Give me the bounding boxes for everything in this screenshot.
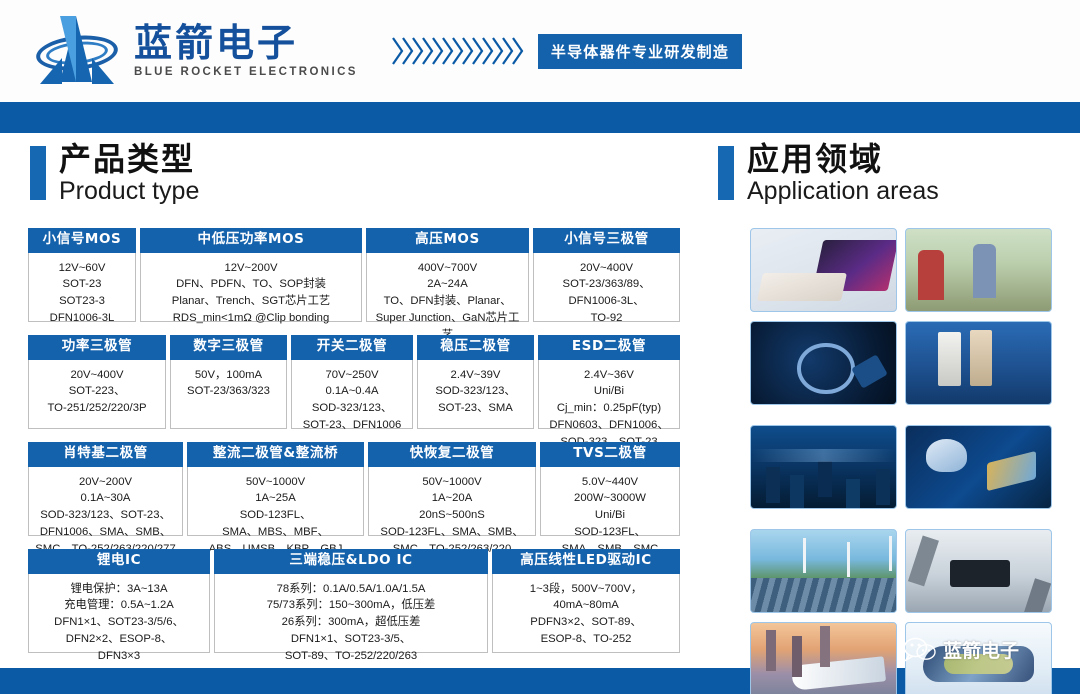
brand-logo: 蓝箭电子 BLUE ROCKET ELECTRONICS — [34, 14, 358, 88]
product-category-card[interactable]: 小信号三极管20V~400V SOT-23/363/89、 DFN1006-3L… — [533, 228, 680, 322]
smart-city-night-photo — [750, 425, 897, 509]
product-category-title: ESD二极管 — [538, 335, 680, 360]
application-areas-title-cn: 应用领域 — [747, 142, 939, 177]
application-areas-title-en: Application areas — [747, 178, 939, 206]
tagline-badge: 半导体器件专业研发制造 — [538, 34, 742, 69]
brand-name-cn: 蓝箭电子 — [134, 24, 358, 64]
heading-accent-bar — [30, 146, 46, 200]
brand-text: 蓝箭电子 BLUE ROCKET ELECTRONICS — [134, 24, 358, 79]
product-category-title: 整流二极管&整流桥 — [187, 442, 364, 467]
application-image-row — [750, 321, 1052, 405]
wearable-devices-photo — [750, 321, 897, 405]
product-category-card[interactable]: 高压线性LED驱动IC1~3段，500V~700V， 40mA~80mA PDF… — [492, 549, 680, 653]
product-category-card[interactable]: TVS二极管5.0V~440V 200W~3000W Uni/Bi SOD-12… — [540, 442, 680, 536]
product-category-title: 高压线性LED驱动IC — [492, 549, 680, 574]
product-category-title: 高压MOS — [366, 228, 529, 253]
product-category-title: 锂电IC — [28, 549, 210, 574]
product-category-title: 快恢复二极管 — [368, 442, 536, 467]
product-category-card[interactable]: 锂电IC锂电保护：3A~13A 充电管理：0.5A~1.2A DFN1×1、SO… — [28, 549, 210, 653]
product-category-specs: 20V~200V 0.1A~30A SOD-323/123、SOT-23、 DF… — [28, 467, 183, 536]
wechat-account-name: 蓝箭电子 — [943, 636, 1019, 663]
product-row: 肖特基二极管20V~200V 0.1A~30A SOD-323/123、SOT-… — [28, 442, 688, 542]
application-image-row — [750, 228, 1052, 312]
application-image-row — [750, 425, 1052, 509]
product-category-specs: 2.4V~36V Uni/Bi Cj_min：0.25pF(typ) DFN06… — [538, 360, 680, 429]
product-category-specs: 1~3段，500V~700V， 40mA~80mA PDFN3×2、SOT-89… — [492, 574, 680, 653]
product-type-heading: 产品类型 Product type — [30, 142, 199, 205]
product-category-card[interactable]: 功率三极管20V~400V SOT-223、 TO-251/252/220/3P — [28, 335, 166, 429]
chevron-arrows-icon — [392, 36, 522, 66]
home-appliances-photo — [905, 321, 1052, 405]
industrial-robot-arm-photo — [905, 529, 1052, 613]
product-category-card[interactable]: 数字三极管50V，100mA SOT-23/363/323 — [170, 335, 287, 429]
product-category-specs: 50V~1000V 1A~20A 20nS~500nS SOD-123FL、SM… — [368, 467, 536, 536]
application-image-row — [750, 529, 1052, 613]
laptop-tablet-photo — [750, 228, 897, 312]
product-category-title: 小信号MOS — [28, 228, 136, 253]
product-category-title: 中低压功率MOS — [140, 228, 362, 253]
application-image-grid — [750, 228, 1052, 694]
product-category-card[interactable]: ESD二极管2.4V~36V Uni/Bi Cj_min：0.25pF(typ)… — [538, 335, 680, 429]
solar-wind-energy-photo — [750, 529, 897, 613]
product-category-card[interactable]: 快恢复二极管50V~1000V 1A~20A 20nS~500nS SOD-12… — [368, 442, 536, 536]
rocket-logo-icon — [34, 14, 120, 88]
high-speed-train-photo — [750, 622, 897, 694]
heading-accent-bar — [718, 146, 734, 200]
product-category-title: TVS二极管 — [540, 442, 680, 467]
product-category-specs: 锂电保护：3A~13A 充电管理：0.5A~1.2A DFN1×1、SOT23-… — [28, 574, 210, 653]
product-category-specs: 12V~60V SOT-23 SOT23-3 DFN1006-3L — [28, 253, 136, 322]
chevron-right-icon — [512, 36, 525, 66]
product-category-card[interactable]: 三端稳压&LDO IC78系列：0.1A/0.5A/1.0A/1.5A 75/7… — [214, 549, 488, 653]
product-row: 小信号MOS12V~60V SOT-23 SOT23-3 DFN1006-3L中… — [28, 228, 688, 328]
product-category-specs: 78系列：0.1A/0.5A/1.0A/1.5A 75/73系列：150~300… — [214, 574, 488, 653]
product-category-specs: 400V~700V 2A~24A TO、DFN封装、Planar、 Super … — [366, 253, 529, 322]
family-outdoor-photo — [905, 228, 1052, 312]
product-category-card[interactable]: 开关二极管70V~250V 0.1A~0.4A SOD-323/123、 SOT… — [291, 335, 413, 429]
product-type-title-en: Product type — [59, 178, 199, 206]
brand-name-en: BLUE ROCKET ELECTRONICS — [134, 66, 358, 78]
product-category-title: 肖特基二极管 — [28, 442, 183, 467]
product-category-title: 功率三极管 — [28, 335, 166, 360]
ai-robot-photo — [905, 425, 1052, 509]
product-category-specs: 20V~400V SOT-223、 TO-251/252/220/3P — [28, 360, 166, 429]
product-category-title: 开关二极管 — [291, 335, 413, 360]
product-category-card[interactable]: 中低压功率MOS12V~200V DFN、PDFN、TO、SOP封装 Plana… — [140, 228, 362, 322]
product-category-specs: 70V~250V 0.1A~0.4A SOD-323/123、 SOT-23、D… — [291, 360, 413, 429]
product-row: 功率三极管20V~400V SOT-223、 TO-251/252/220/3P… — [28, 335, 688, 435]
product-category-specs: 12V~200V DFN、PDFN、TO、SOP封装 Planar、Trench… — [140, 253, 362, 322]
product-category-card[interactable]: 整流二极管&整流桥50V~1000V 1A~25A SOD-123FL、 SMA… — [187, 442, 364, 536]
product-category-specs: 50V，100mA SOT-23/363/323 — [170, 360, 287, 429]
product-category-title: 三端稳压&LDO IC — [214, 549, 488, 574]
product-category-specs: 5.0V~440V 200W~3000W Uni/Bi SOD-123FL、 S… — [540, 467, 680, 536]
page-header: 蓝箭电子 BLUE ROCKET ELECTRONICS 半导体器件专业研发制造 — [0, 0, 1080, 102]
product-category-title: 稳压二极管 — [417, 335, 534, 360]
product-type-grid: 小信号MOS12V~60V SOT-23 SOT23-3 DFN1006-3L中… — [28, 228, 688, 666]
poster-page: 蓝箭电子 BLUE ROCKET ELECTRONICS 半导体器件专业研发制造… — [0, 0, 1080, 694]
product-category-card[interactable]: 高压MOS400V~700V 2A~24A TO、DFN封装、Planar、 S… — [366, 228, 529, 322]
product-category-title: 数字三极管 — [170, 335, 287, 360]
product-type-title-cn: 产品类型 — [59, 142, 199, 177]
product-category-card[interactable]: 小信号MOS12V~60V SOT-23 SOT23-3 DFN1006-3L — [28, 228, 136, 322]
wechat-watermark: 蓝箭电子 — [903, 636, 1019, 663]
top-blue-divider — [0, 102, 1080, 133]
application-areas-heading: 应用领域 Application areas — [718, 142, 939, 205]
product-category-specs: 20V~400V SOT-23/363/89、 DFN1006-3L、 TO-9… — [533, 253, 680, 322]
product-category-specs: 50V~1000V 1A~25A SOD-123FL、 SMA、MBS、MBF、… — [187, 467, 364, 536]
product-row: 锂电IC锂电保护：3A~13A 充电管理：0.5A~1.2A DFN1×1、SO… — [28, 549, 688, 659]
product-category-title: 小信号三极管 — [533, 228, 680, 253]
product-category-specs: 2.4V~39V SOD-323/123、 SOT-23、SMA — [417, 360, 534, 429]
product-category-card[interactable]: 稳压二极管2.4V~39V SOD-323/123、 SOT-23、SMA — [417, 335, 534, 429]
product-category-card[interactable]: 肖特基二极管20V~200V 0.1A~30A SOD-323/123、SOT-… — [28, 442, 183, 536]
wechat-icon — [903, 637, 937, 663]
